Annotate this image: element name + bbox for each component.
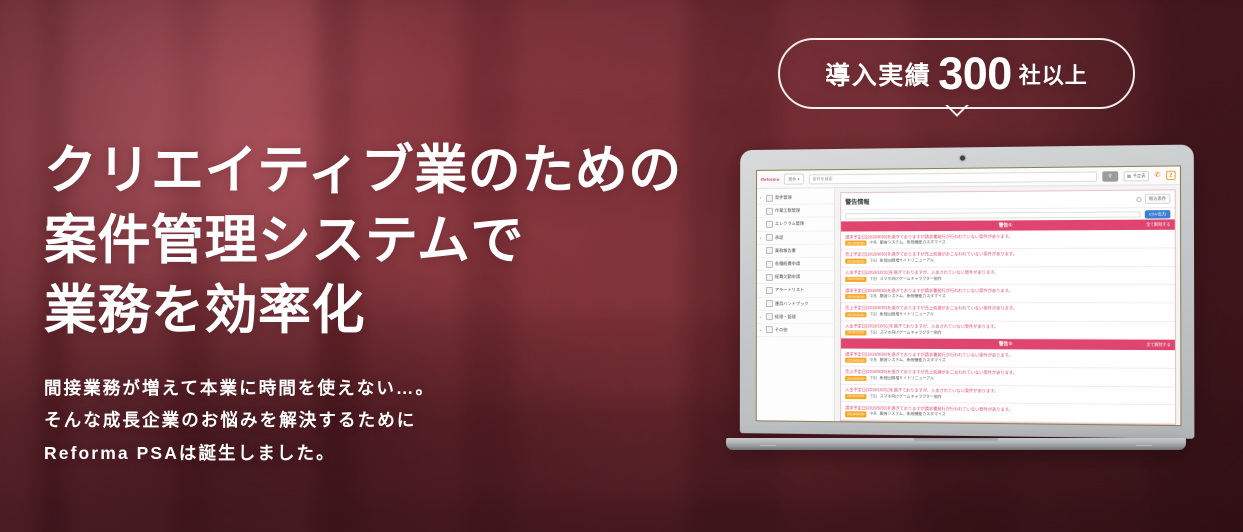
alert-date-tag: 2019/09/30 bbox=[845, 259, 866, 264]
clock-icon bbox=[765, 208, 772, 215]
app-search-input[interactable]: 案件を検索 bbox=[808, 171, 1096, 184]
badge-trailer-label: 社以上 bbox=[1019, 58, 1088, 90]
sidebar-item-4[interactable]: 業務報告書 bbox=[757, 244, 834, 258]
sidebar-item-9[interactable]: ▸ 経理・管理 bbox=[757, 311, 834, 324]
badge-pointer-tail bbox=[944, 105, 970, 119]
export-button[interactable]: CSV出力 bbox=[1145, 210, 1171, 219]
alert-date-tag: 2019/10/31 bbox=[845, 276, 866, 281]
badge-lead-label: 導入実績 bbox=[825, 56, 931, 92]
alert-meta: 2019/10/31 下田 スマホ向けゲームキャラクター制作 bbox=[845, 394, 1171, 402]
alert-date-tag: 2019/09/30 bbox=[845, 412, 866, 417]
chart-icon bbox=[765, 313, 772, 320]
sidebar-item-0[interactable]: ▸ 案件管理 bbox=[757, 191, 834, 205]
sidebar-item-5[interactable]: 各種経費申請 bbox=[757, 258, 834, 271]
achievement-badge: 導入実績 300 社以上 bbox=[778, 38, 1135, 109]
headline-line-3: 業務を効率化 bbox=[44, 276, 682, 346]
alert-owner: 下田 bbox=[869, 259, 876, 264]
app-sidebar: ▸ 案件管理 作業工数管理 エレクラム管理 bbox=[757, 188, 835, 421]
chevron-right-icon: ▸ bbox=[760, 328, 763, 332]
alert-subject: スマホ向けゲームキャラクター制作 bbox=[880, 276, 942, 281]
alert-subject: 顧客システム、新規機能カスタマイズ bbox=[880, 294, 946, 299]
grid-icon bbox=[765, 327, 772, 334]
alert-row[interactable]: 請求予定日(2019/9/30)を過ぎておりますが請求書発行が行われていない案件… bbox=[841, 230, 1175, 250]
sidebar-item-label: アラートリスト bbox=[775, 287, 804, 293]
book-icon bbox=[765, 300, 772, 307]
sidebar-item-label: 各種経費申請 bbox=[775, 261, 800, 267]
alert-date-tag: 2019/09/30 bbox=[845, 241, 866, 246]
alert-date-tag: 2019/09/30 bbox=[845, 294, 866, 299]
alert-row[interactable]: 売上予定日(2019/9/30)を過ぎておりますが売上処理がおこなわれていない案… bbox=[841, 248, 1175, 267]
calendar-button[interactable]: ▦ 予定表 bbox=[1123, 170, 1149, 181]
alert-meta: 2019/09/30 中島 顧客システム、新規機能カスタマイズ bbox=[845, 239, 1170, 246]
chevron-right-icon: ▸ bbox=[760, 196, 763, 200]
alert-row[interactable]: 請求予定日(2019/9/30)を過ぎておりますが請求書発行が行われていない案件… bbox=[841, 285, 1175, 303]
alert-owner: 下田 bbox=[869, 312, 876, 317]
band-label: 警告① bbox=[999, 223, 1013, 229]
user-badge[interactable]: 2 bbox=[1166, 171, 1176, 180]
hero-subcopy: 間接業務が増えて本業に時間を使えない…。 そんな成長企業のお悩みを解決するために… bbox=[44, 372, 682, 469]
page-title: クリエイティブ業のための 案件管理システムで 業務を効率化 bbox=[44, 136, 682, 346]
alert-band-1: 警告① 全て解除する bbox=[841, 220, 1175, 232]
alert-message: 売上予定日(2019/9/30)を過ぎておりますが売上処理がおこなわれていない案… bbox=[845, 251, 1170, 257]
alert-message: 入金予定日(2019/10/31)を過ぎておりますが、入金されていない案件があり… bbox=[845, 323, 1170, 329]
alert-subject: 新規回線増サイトリニューアル bbox=[880, 312, 934, 317]
band-label: 警告② bbox=[999, 342, 1013, 348]
alert-row[interactable]: 請求予定日(2019/9/30)を過ぎておりますが請求書発行が行われていない案件… bbox=[841, 349, 1175, 369]
alert-row[interactable]: 請求予定日(2019/9/30)を過ぎておりますが請求書発行が行われていない案件… bbox=[841, 402, 1175, 424]
sidebar-item-8[interactable]: 運用ハンドブック bbox=[757, 298, 834, 311]
panel-title: 警告情報 bbox=[845, 197, 869, 206]
sidebar-item-label: その他 bbox=[775, 327, 788, 333]
alert-message: 請求予定日(2019/9/30)を過ぎておりますが請求書発行が行われていない案件… bbox=[845, 287, 1170, 292]
subcopy-line-3: Reforma PSAは誕生しました。 bbox=[44, 437, 682, 469]
sidebar-item-2[interactable]: エレクラム管理 bbox=[757, 218, 834, 232]
alert-meta: 2019/09/30 下田 新規回線増サイトリニューアル bbox=[845, 312, 1170, 318]
chevron-right-icon: ▸ bbox=[760, 236, 763, 240]
alert-owner: 中島 bbox=[869, 241, 876, 246]
band-clear-link[interactable]: 全て解除する bbox=[1146, 222, 1170, 227]
doc-icon bbox=[765, 221, 772, 228]
sidebar-item-1[interactable]: 作業工数管理 bbox=[757, 205, 834, 219]
headline-line-1: クリエイティブ業のための bbox=[44, 136, 682, 206]
calendar-icon bbox=[765, 274, 772, 281]
sidebar-item-label: エレクラム管理 bbox=[775, 221, 804, 227]
laptop-screen: Reforma 案件 ▾ 案件を検索 ⚲ ▦ 予定表 ✆ 2 ▸ bbox=[756, 165, 1182, 426]
alert-meta: 2019/10/31 下田 スマホ向けゲームキャラクター制作 bbox=[845, 330, 1170, 336]
badge-number: 300 bbox=[934, 51, 1016, 96]
phone-icon[interactable]: ✆ bbox=[1154, 172, 1160, 179]
alert-meta: 2019/09/30 下田 新規回線増サイトリニューアル bbox=[845, 376, 1171, 384]
sidebar-item-label: 案件管理 bbox=[775, 195, 792, 201]
alert-meta: 2019/09/30 中島 顧客システム、新規機能カスタマイズ bbox=[845, 294, 1170, 299]
headline-line-2: 案件管理システムで bbox=[44, 206, 682, 276]
alert-date-tag: 2019/09/30 bbox=[845, 312, 866, 317]
band-clear-link[interactable]: 全て解除する bbox=[1146, 343, 1170, 348]
alert-band-2: 警告② 全て解除する bbox=[841, 339, 1175, 351]
alert-owner: 中島 bbox=[869, 412, 876, 417]
app-scope-chip[interactable]: 案件 ▾ bbox=[784, 173, 803, 184]
alert-icon bbox=[765, 287, 772, 294]
sidebar-item-label: 承認 bbox=[775, 234, 783, 240]
subcopy-line-1: 間接業務が増えて本業に時間を使えない…。 bbox=[44, 372, 682, 404]
alert-row[interactable]: 入金予定日(2019/10/31)を過ぎておりますが、入金されていない案件があり… bbox=[841, 321, 1175, 340]
laptop-lid: Reforma 案件 ▾ 案件を検索 ⚲ ▦ 予定表 ✆ 2 ▸ bbox=[740, 145, 1195, 439]
alert-subject: スマホ向けゲームキャラクター制作 bbox=[880, 330, 942, 335]
panel-header: 警告情報 絞込条件 bbox=[841, 190, 1174, 210]
report-icon bbox=[765, 247, 772, 254]
laptop-base bbox=[726, 438, 1186, 450]
panel-header-actions: 絞込条件 bbox=[1136, 194, 1170, 205]
alert-subject: 新規回線増サイトリニューアル bbox=[880, 376, 934, 381]
alert-owner: 中島 bbox=[869, 358, 876, 363]
laptop-mockup: Reforma 案件 ▾ 案件を検索 ⚲ ▦ 予定表 ✆ 2 ▸ bbox=[726, 150, 1186, 460]
hero-copy-block: クリエイティブ業のための 案件管理システムで 業務を効率化 間接業務が増えて本業… bbox=[44, 136, 682, 469]
refresh-icon[interactable] bbox=[1136, 196, 1141, 201]
filter-input[interactable] bbox=[845, 211, 1140, 219]
alert-owner: 下田 bbox=[869, 376, 876, 381]
calendar-button-label: 予定表 bbox=[1133, 173, 1146, 179]
alert-date-tag: 2019/10/31 bbox=[845, 330, 866, 335]
calendar-icon: ▦ bbox=[1127, 173, 1131, 178]
sidebar-item-6[interactable]: 経費欠勤申請 bbox=[757, 271, 834, 284]
alert-owner: 下田 bbox=[869, 330, 876, 335]
alert-message: 入金予定日(2019/10/31)を過ぎておりますが、入金されていない案件があり… bbox=[845, 269, 1170, 275]
search-icon[interactable]: ⚲ bbox=[1102, 171, 1118, 181]
alert-meta: 2019/09/30 中島 顧客システム、新規機能カスタマイズ bbox=[845, 412, 1171, 421]
alert-owner: 中島 bbox=[869, 294, 876, 299]
sidebar-item-label: 業務報告書 bbox=[775, 248, 796, 254]
filter-button[interactable]: 絞込条件 bbox=[1145, 194, 1171, 205]
alert-date-tag: 2019/09/30 bbox=[845, 358, 866, 363]
alert-message: 請求予定日(2019/9/30)を過ぎておりますが請求書発行が行われていない案件… bbox=[845, 351, 1171, 358]
laptop-base-notch bbox=[914, 438, 998, 443]
alert-message: 請求予定日(2019/9/30)を過ぎておりますが請求書発行が行われていない案件… bbox=[845, 232, 1170, 239]
money-icon bbox=[765, 260, 772, 267]
alert-owner: 下田 bbox=[869, 394, 876, 399]
hero-banner: 導入実績 300 社以上 クリエイティブ業のための 案件管理システムで 業務を効… bbox=[0, 0, 1243, 532]
webcam-icon bbox=[960, 156, 965, 161]
sidebar-item-label: 経費欠勤申請 bbox=[775, 274, 800, 280]
alert-subject: 顧客システム、新規機能カスタマイズ bbox=[880, 240, 946, 245]
app-logo: Reforma bbox=[761, 177, 780, 182]
alert-subject: 新規回線増サイトリニューアル bbox=[880, 258, 934, 263]
alert-row[interactable]: 入金予定日(2019/10/31)を過ぎておりますが、入金されていない案件があり… bbox=[841, 267, 1175, 286]
sidebar-item-label: 経理・管理 bbox=[775, 314, 796, 320]
chevron-right-icon: ▸ bbox=[760, 315, 763, 319]
alert-date-tag: 2019/09/30 bbox=[845, 376, 866, 381]
sidebar-item-3[interactable]: ▸ 承認 bbox=[757, 231, 834, 245]
check-icon bbox=[765, 234, 772, 241]
alert-panel: 警告情報 絞込条件 CSV出力 警告 bbox=[840, 189, 1176, 425]
subcopy-line-2: そんな成長企業のお悩みを解決するために bbox=[44, 404, 682, 436]
laptop-foot-left bbox=[760, 444, 776, 445]
alert-meta: 2019/09/30 中島 顧客システム、新規機能カスタマイズ bbox=[845, 358, 1171, 365]
alert-date-tag: 2019/10/31 bbox=[845, 394, 866, 399]
laptop-foot-right bbox=[1136, 444, 1152, 445]
alert-subject: スマホ向けゲームキャラクター制作 bbox=[880, 394, 942, 400]
app-body: ▸ 案件管理 作業工数管理 エレクラム管理 bbox=[757, 185, 1181, 425]
app-main: 警告情報 絞込条件 CSV出力 警告 bbox=[835, 185, 1180, 425]
alert-subject: 顧客システム、新規機能カスタマイズ bbox=[880, 412, 946, 418]
alert-owner: 下田 bbox=[869, 277, 876, 282]
alert-message: 売上予定日(2019/9/30)を過ぎておりますが売上処理がおこなわれていない案… bbox=[845, 305, 1170, 311]
sidebar-item-10[interactable]: ▸ その他 bbox=[757, 324, 834, 338]
alert-row[interactable]: 売上予定日(2019/9/30)を過ぎておりますが売上処理がおこなわれていない案… bbox=[841, 303, 1175, 322]
alert-meta: 2019/09/30 下田 新規回線増サイトリニューアル bbox=[845, 258, 1170, 264]
folder-icon bbox=[765, 194, 772, 201]
sidebar-item-label: 運用ハンドブック bbox=[775, 301, 809, 307]
sidebar-item-7[interactable]: アラートリスト bbox=[757, 284, 834, 297]
alert-meta: 2019/10/31 下田 スマホ向けゲームキャラクター制作 bbox=[845, 276, 1170, 282]
sidebar-item-label: 作業工数管理 bbox=[775, 208, 800, 214]
alert-subject: 顧客システム、新規機能カスタマイズ bbox=[880, 358, 946, 363]
